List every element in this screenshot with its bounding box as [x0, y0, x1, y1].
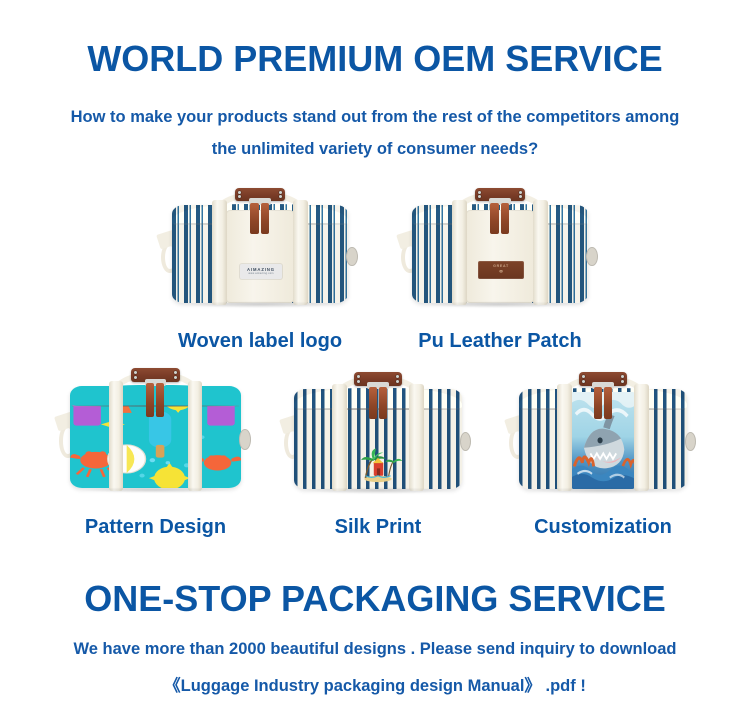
zipper-pull-tab [146, 383, 154, 416]
handle-strap-left [452, 200, 467, 305]
base-shadow [184, 301, 336, 307]
zipper-pulls [594, 387, 613, 419]
zipper-pulls [369, 387, 388, 419]
handle-strap-right [293, 200, 308, 305]
handle-strap-right [188, 381, 203, 491]
handle-strap-left [557, 384, 571, 491]
subtitle-bottom-line-1: We have more than 2000 beautiful designs… [0, 640, 750, 659]
zipper-pull-tab [156, 383, 164, 416]
subtitle-top-line-2: the unlimited variety of consumer needs? [0, 140, 750, 159]
base-shadow [424, 301, 576, 307]
page-title-bottom: ONE-STOP PACKAGING SERVICE [0, 578, 750, 620]
side-clip-icon [460, 432, 471, 452]
rivet-icon [279, 195, 282, 198]
handle-strap-right [634, 384, 648, 491]
subtitle-top-line-1: How to make your products stand out from… [0, 108, 750, 127]
product-image-silk-print [283, 372, 473, 496]
zipper-pulls [146, 383, 166, 416]
caption-silk-print: Silk Print [283, 516, 473, 539]
rivet-icon [478, 191, 481, 194]
rivet-icon [357, 380, 360, 383]
leather-patch-text: GREAT [493, 265, 509, 269]
rivet-icon [478, 195, 481, 198]
handle-strap-left [212, 200, 227, 305]
rivet-icon [519, 195, 522, 198]
rivet-icon [582, 375, 585, 378]
rivet-icon [174, 376, 177, 379]
caption-woven-label-logo: Woven label logo [160, 330, 360, 353]
rivet-icon [519, 191, 522, 194]
caption-pattern-design: Pattern Design [48, 516, 263, 539]
rivet-icon [396, 380, 399, 383]
side-clip-icon [346, 247, 358, 267]
poster-root: WORLD PREMIUM OEM SERVICE How to make yo… [0, 0, 750, 720]
rivet-icon [582, 380, 585, 383]
handle-strap-right [409, 384, 423, 491]
zipper-pull-tab [594, 387, 602, 419]
handle-strap-right [533, 200, 548, 305]
zipper-pull-tab [379, 387, 387, 419]
rivet-icon [621, 380, 624, 383]
zipper-pull-tab [501, 203, 509, 235]
product-image-woven-label-logo: AIMAZING www.aimazing.com [160, 188, 360, 310]
subtitle-bottom-line-2: 《Luggage Industry packaging design Manua… [0, 672, 750, 696]
bicycle-icon: ⚭ [498, 269, 504, 276]
side-clip-icon [586, 247, 598, 267]
woven-label-subtext: www.aimazing.com [248, 273, 273, 275]
woven-label-badge: AIMAZING www.aimazing.com [240, 264, 282, 280]
zipper-pull-tab [604, 387, 612, 419]
side-clip-icon [685, 432, 696, 452]
base-shadow [81, 487, 229, 493]
product-image-customization [508, 372, 698, 496]
handle-strap-left [109, 381, 124, 491]
rivet-icon [238, 191, 241, 194]
side-clip-icon [239, 429, 251, 449]
rivet-icon [238, 195, 241, 198]
zipper-pulls [490, 203, 510, 235]
caption-pu-leather-patch: Pu Leather Patch [400, 330, 600, 353]
rivet-icon [174, 371, 177, 374]
rivet-icon [396, 375, 399, 378]
rivet-icon [134, 371, 137, 374]
zipper-pull-tab [369, 387, 377, 419]
product-image-pu-leather-patch: GREAT ⚭ [400, 188, 600, 310]
rivet-icon [621, 375, 624, 378]
page-title-top: WORLD PREMIUM OEM SERVICE [0, 38, 750, 80]
rivet-icon [357, 375, 360, 378]
base-shadow [306, 487, 450, 493]
caption-customization: Customization [508, 516, 698, 539]
rivet-icon [134, 376, 137, 379]
rivet-icon [279, 191, 282, 194]
product-image-pattern-design [58, 368, 253, 496]
base-shadow [531, 487, 675, 493]
zipper-pull-tab [261, 203, 269, 235]
zipper-pull-tab [250, 203, 258, 235]
pu-leather-patch-badge: GREAT ⚭ [478, 261, 524, 279]
zipper-pulls [250, 203, 270, 235]
handle-strap-left [332, 384, 346, 491]
zipper-pull-tab [490, 203, 498, 235]
